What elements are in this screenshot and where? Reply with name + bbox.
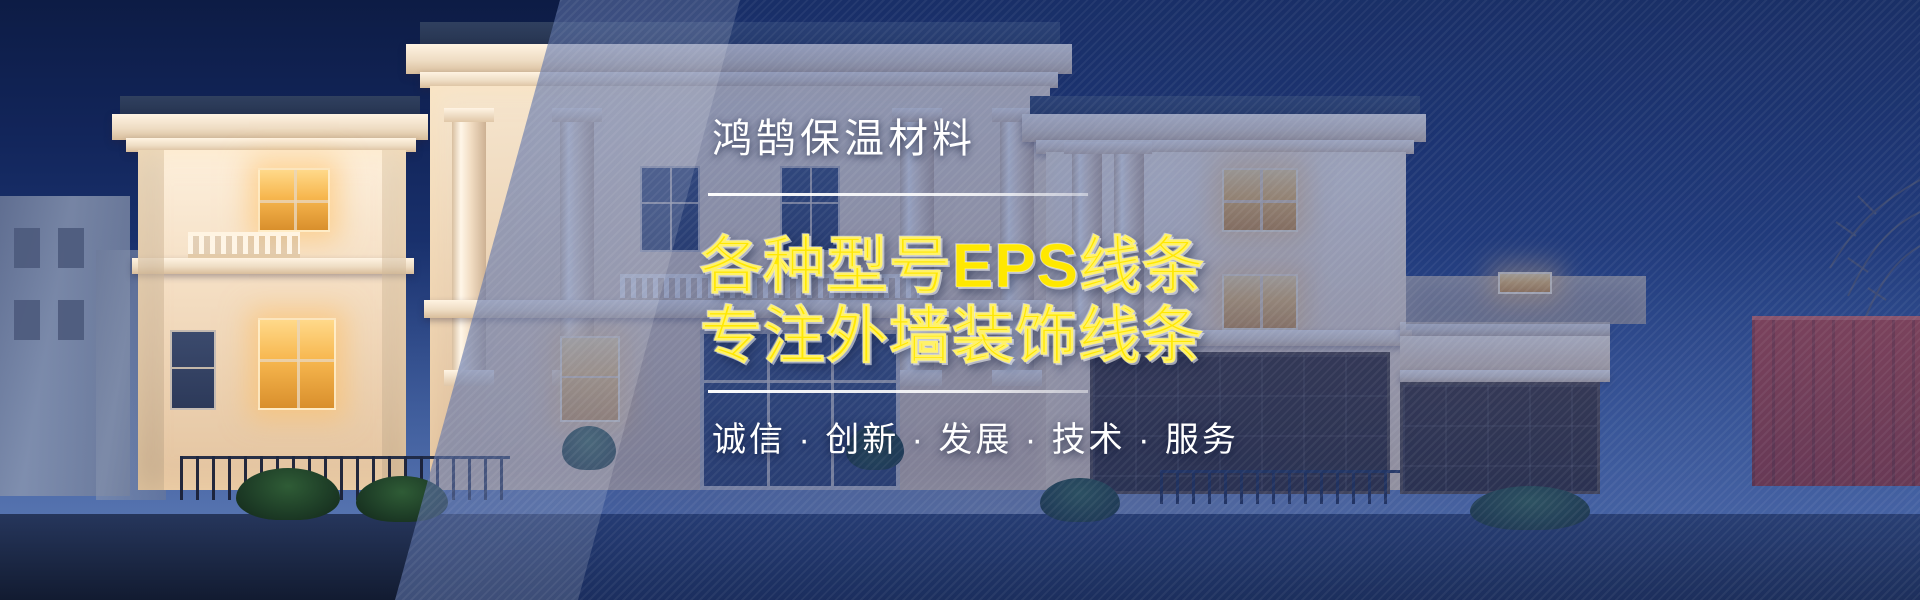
banner-copy: 鸿鹄保温材料 各种型号EPS线条 专注外墙装饰线条 诚信 · 创新 · 发展 ·… — [0, 0, 1920, 600]
tagline: 诚信 · 创新 · 发展 · 技术 · 服务 — [712, 412, 1239, 461]
hero-banner: 鸿鹄保温材料 各种型号EPS线条 专注外墙装饰线条 诚信 · 创新 · 发展 ·… — [0, 0, 1920, 600]
company-name: 鸿鹄保温材料 — [712, 106, 976, 164]
divider-top — [708, 193, 1088, 196]
divider-bottom — [708, 390, 1088, 393]
headline-line-2: 专注外墙装饰线条 — [700, 285, 1204, 375]
